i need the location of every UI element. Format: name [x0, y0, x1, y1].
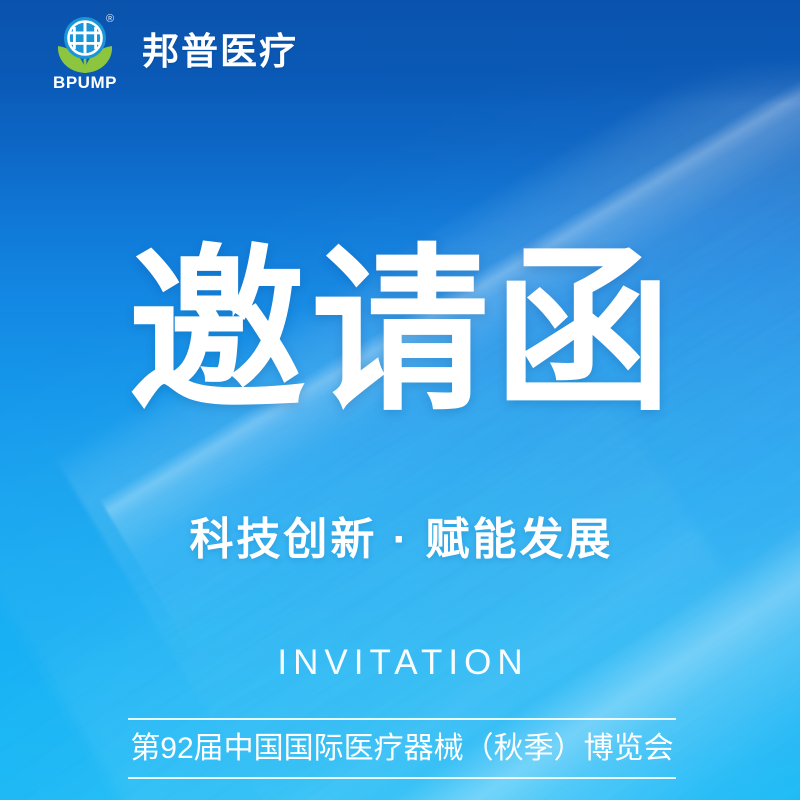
footer-block: 第92届中国国际医疗器械（秋季）博览会 [128, 718, 676, 779]
footer-rule-bottom [128, 777, 676, 779]
poster-content: 邀请函 科技创新 · 赋能发展 INVITATION [0, 0, 800, 800]
poster-subtitle: 科技创新 · 赋能发展 [0, 512, 800, 567]
invitation-english-label: INVITATION [0, 645, 800, 680]
page-title: 邀请函 [0, 243, 800, 421]
event-name: 第92届中国国际医疗器械（秋季）博览会 [128, 720, 676, 777]
invitation-poster: BPUMP ® 邦普医疗 邀请函 科技创新 · 赋能发展 INVITATION … [0, 0, 800, 800]
